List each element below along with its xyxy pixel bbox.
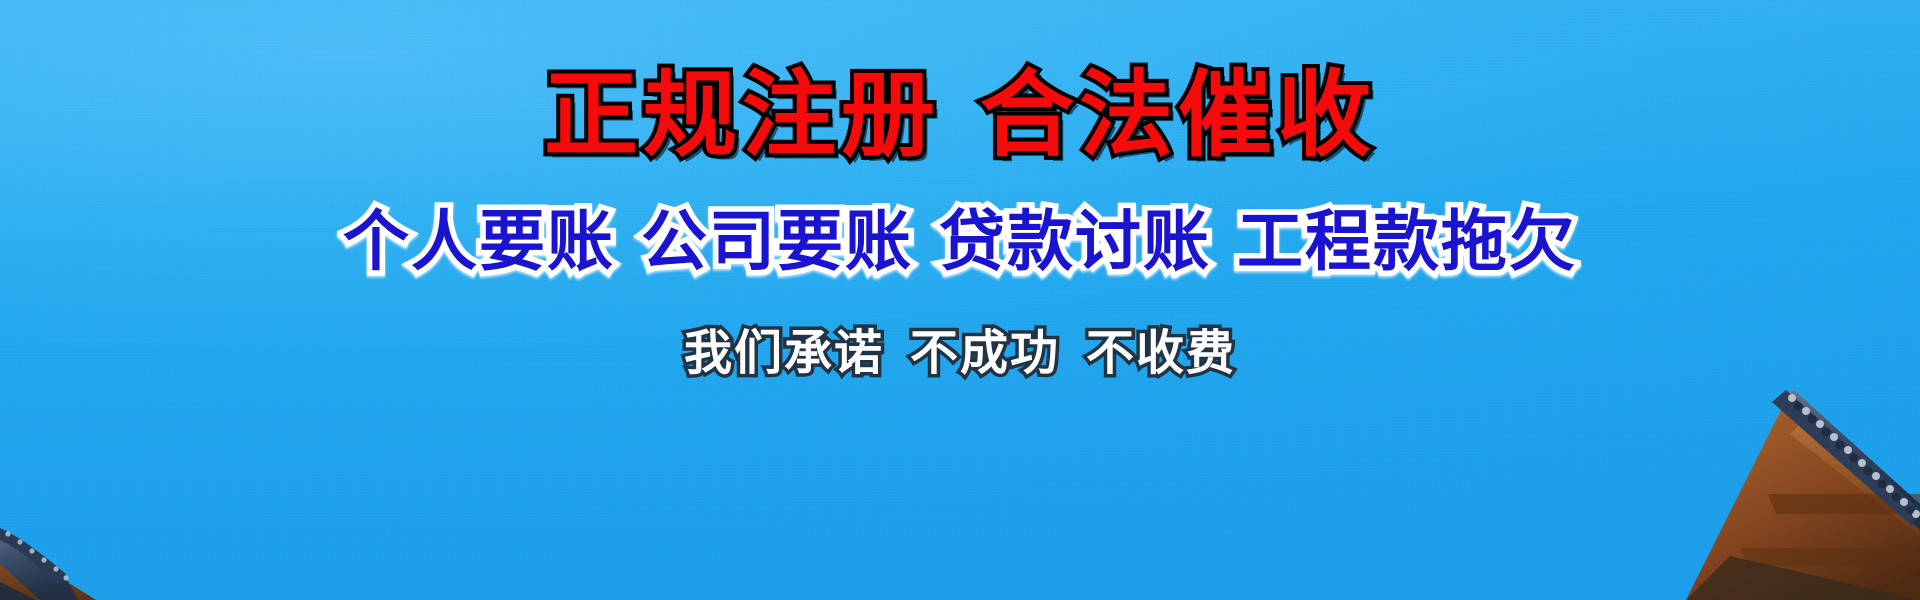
services-line: 个人要账公司要账贷款讨账工程款拖欠 <box>343 208 1577 274</box>
service-item-3: 贷款讨账 <box>939 208 1211 274</box>
service-item-4: 工程款拖欠 <box>1237 208 1577 274</box>
service-item-2: 公司要账 <box>641 208 913 274</box>
promise-part-1: 我们承诺 <box>684 330 884 378</box>
banner-text-stack: 正规注册合法催收 个人要账公司要账贷款讨账工程款拖欠 我们承诺不成功不收费 <box>0 0 1920 600</box>
promise-line: 我们承诺不成功不收费 <box>684 330 1236 378</box>
headline-part-1: 正规注册 <box>544 68 940 162</box>
headline-part-2: 合法催收 <box>980 68 1376 162</box>
promise-part-3: 不收费 <box>1086 330 1236 378</box>
advertising-banner: 正规注册合法催收 个人要账公司要账贷款讨账工程款拖欠 我们承诺不成功不收费 <box>0 0 1920 600</box>
promise-part-2: 不成功 <box>910 330 1060 378</box>
headline: 正规注册合法催收 <box>544 68 1376 162</box>
service-item-1: 个人要账 <box>343 208 615 274</box>
